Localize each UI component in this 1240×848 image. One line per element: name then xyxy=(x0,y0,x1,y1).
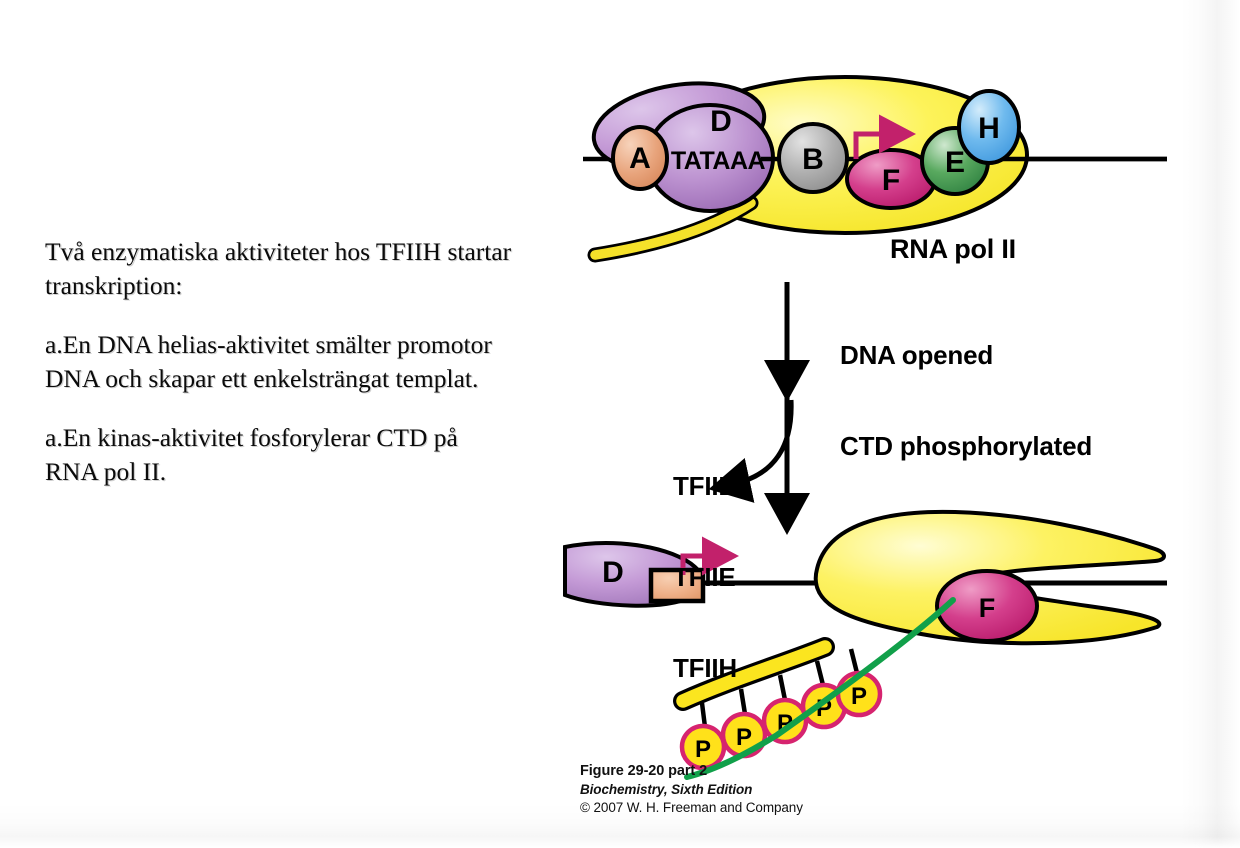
figure-caption: Figure 29-20 part 2 Biochemistry, Sixth … xyxy=(580,762,803,817)
step-line-1: DNA opened xyxy=(840,340,1092,370)
body-paragraph-3: a.En kinas-aktivitet fosforylerar CTD på… xyxy=(45,421,515,489)
step-line-2: CTD phosphorylated xyxy=(840,431,1092,461)
label-tfiih-top: H xyxy=(978,112,1000,145)
label-tfiif-top: F xyxy=(882,164,900,197)
bottom-open-complex: F D xyxy=(565,512,1167,777)
released-factor-tfiib: TFIIB xyxy=(673,471,737,501)
label-tfiib-top: B xyxy=(802,143,824,176)
top-closed-complex: A D TATAAA B F E H xyxy=(583,72,1167,255)
caption-figure-number: Figure 29-20 part 2 xyxy=(580,762,803,781)
label-tata-box-top: TATAAA xyxy=(671,147,766,175)
slide-canvas: Två enzymatiska aktiviteter hos TFIIH st… xyxy=(0,0,1240,848)
label-tfiia-top: A xyxy=(629,142,651,175)
body-paragraph-1: Två enzymatiska aktiviteter hos TFIIH st… xyxy=(45,235,515,303)
body-paragraph-2: a.En DNA helias-aktivitet smälter promot… xyxy=(45,328,515,396)
released-factor-tfiie: TFIIE xyxy=(673,562,737,592)
label-rna-pol-ii: RNA pol II xyxy=(890,234,1016,265)
phosphate-label: P xyxy=(851,683,867,710)
label-tfiid-top: D xyxy=(710,105,732,138)
figure-illustration: A D TATAAA B F E H xyxy=(555,55,1195,815)
released-factor-tfiih: TFIIH xyxy=(673,653,737,683)
caption-book-title: Biochemistry, Sixth Edition xyxy=(580,781,803,799)
arrow-factor-release xyxy=(733,400,791,484)
label-tfiif-bottom: F xyxy=(979,593,996,623)
phosphate-label: P xyxy=(736,724,752,751)
body-text-block: Två enzymatiska aktiviteter hos TFIIH st… xyxy=(45,235,515,488)
label-tfiid-bottom: D xyxy=(602,556,624,589)
transition-arrows xyxy=(733,282,791,510)
label-tfiie-top: E xyxy=(945,146,965,179)
caption-copyright: © 2007 W. H. Freeman and Company xyxy=(580,799,803,817)
released-factors-label: TFIIB TFIIE TFIIH xyxy=(673,410,737,744)
transition-step-label: DNA opened CTD phosphorylated xyxy=(840,280,1092,521)
